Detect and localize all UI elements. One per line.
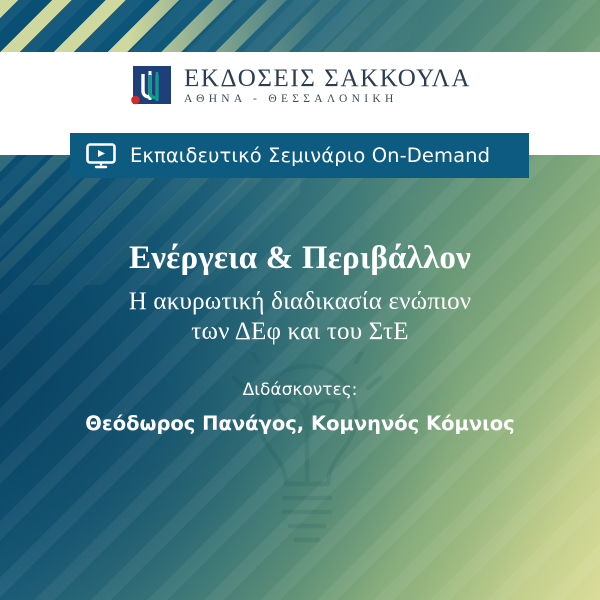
teachers-block: Διδάσκοντες: Θεόδωρος Πανάγος, Κομνηνός …	[0, 382, 600, 434]
monitor-play-icon	[86, 143, 116, 169]
publisher-logo: ΕΚΔΟΣΕΙΣ ΣΑΚΚΟΥΛΑ ΑΘΗΝΑ - ΘΕΣΣΑΛΟΝΙΚΗ	[0, 64, 600, 108]
seminar-subtitle: Η ακυρωτική διαδικασία ενώπιον των ΔΕφ κ…	[0, 287, 600, 348]
seminar-content: Ενέργεια & Περιβάλλον Η ακυρωτική διαδικ…	[0, 240, 600, 433]
on-demand-banner: Εκπαιδευτικό Σεμινάριο On-Demand	[70, 133, 529, 178]
sakkoulas-psi-monogram-icon	[129, 64, 173, 108]
seminar-subtitle-line-2: των ΔΕφ και του ΣτΕ	[0, 317, 600, 348]
teachers-names: Θεόδωρος Πανάγος, Κομνηνός Κόμνιος	[0, 414, 600, 434]
logo-subtitle: ΑΘΗΝΑ - ΘΕΣΣΑΛΟΝΙΚΗ	[184, 94, 471, 106]
seminar-subtitle-line-1: Η ακυρωτική διαδικασία ενώπιον	[0, 287, 600, 318]
seminar-poster: ΕΚΔΟΣΕΙΣ ΣΑΚΚΟΥΛΑ ΑΘΗΝΑ - ΘΕΣΣΑΛΟΝΙΚΗ Εκ…	[0, 0, 600, 600]
logo-wordmark: ΕΚΔΟΣΕΙΣ ΣΑΚΚΟΥΛΑ ΑΘΗΝΑ - ΘΕΣΣΑΛΟΝΙΚΗ	[184, 66, 471, 106]
seminar-title: Ενέργεια & Περιβάλλον	[0, 240, 600, 277]
on-demand-banner-label: Εκπαιδευτικό Σεμινάριο On-Demand	[130, 146, 490, 166]
logo-title: ΕΚΔΟΣΕΙΣ ΣΑΚΚΟΥΛΑ	[184, 66, 471, 91]
teachers-label: Διδάσκοντες:	[0, 382, 600, 399]
